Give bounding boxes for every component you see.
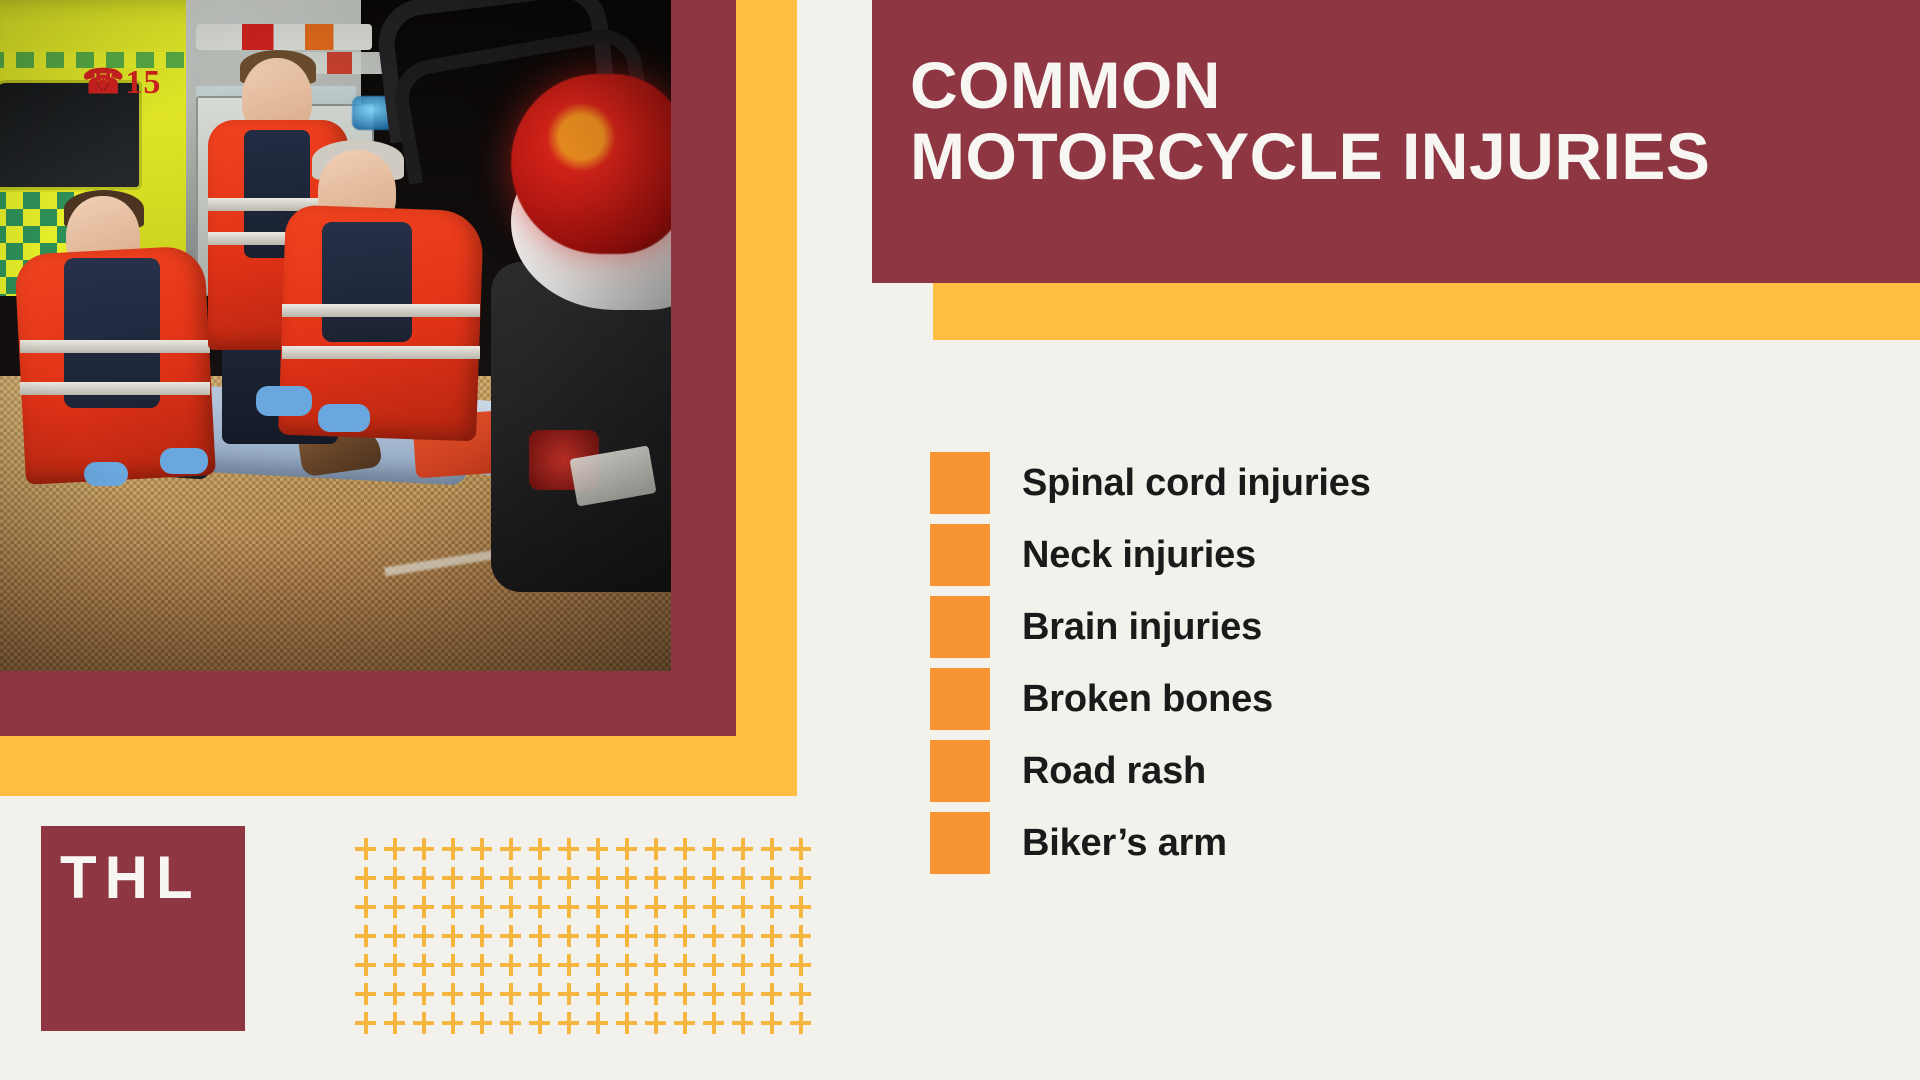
plus-icon xyxy=(616,896,645,925)
plus-icon xyxy=(500,838,529,867)
plus-icon xyxy=(732,896,761,925)
plus-icon xyxy=(790,896,819,925)
plus-icon xyxy=(587,954,616,983)
plus-icon xyxy=(674,983,703,1012)
plus-icon xyxy=(645,925,674,954)
injury-bullet-square xyxy=(930,524,990,586)
plus-icon xyxy=(471,954,500,983)
plus-icon xyxy=(384,838,413,867)
plus-icon xyxy=(645,867,674,896)
plus-icon xyxy=(790,867,819,896)
plus-icon xyxy=(587,896,616,925)
plus-icon xyxy=(471,983,500,1012)
plus-icon xyxy=(761,1012,790,1041)
plus-icon xyxy=(529,954,558,983)
plus-icon xyxy=(442,983,471,1012)
plus-icon xyxy=(645,1012,674,1041)
plus-icon xyxy=(500,1012,529,1041)
injury-list-item: Brain injuries xyxy=(930,596,1371,658)
plus-icon xyxy=(645,954,674,983)
injury-label: Biker’s arm xyxy=(1022,822,1227,865)
injury-label: Road rash xyxy=(1022,750,1206,793)
plus-icon xyxy=(761,925,790,954)
plus-icon xyxy=(645,838,674,867)
plus-icon xyxy=(355,838,384,867)
plus-icon xyxy=(384,896,413,925)
plus-icon xyxy=(674,925,703,954)
plus-icon xyxy=(500,925,529,954)
plus-icon xyxy=(790,838,819,867)
plus-icon xyxy=(645,896,674,925)
plus-icon xyxy=(616,983,645,1012)
injury-bullet-square xyxy=(930,740,990,802)
plus-icon xyxy=(355,1012,384,1041)
accident-photo: ☎15 xyxy=(0,0,671,671)
plus-icon xyxy=(529,1012,558,1041)
plus-icon xyxy=(790,925,819,954)
plus-icon xyxy=(529,896,558,925)
plus-icon xyxy=(703,925,732,954)
plus-icon xyxy=(703,954,732,983)
plus-icon xyxy=(442,1012,471,1041)
plus-icon xyxy=(558,954,587,983)
plus-icon xyxy=(384,983,413,1012)
plus-icon xyxy=(500,954,529,983)
injury-bullet-square xyxy=(930,668,990,730)
plus-icon xyxy=(471,1012,500,1041)
plus-icon xyxy=(442,896,471,925)
plus-icon xyxy=(413,867,442,896)
injury-list-item: Spinal cord injuries xyxy=(930,452,1371,514)
plus-icon xyxy=(732,983,761,1012)
plus-icon xyxy=(558,925,587,954)
plus-icon xyxy=(732,838,761,867)
thl-logo-text: THL xyxy=(60,848,201,908)
plus-icon xyxy=(616,925,645,954)
plus-icon xyxy=(355,925,384,954)
title-underbar-accent xyxy=(933,283,1920,340)
plus-icon xyxy=(616,838,645,867)
plus-icon xyxy=(355,983,384,1012)
thl-logo-block[interactable]: THL xyxy=(41,826,245,1031)
plus-icon xyxy=(703,896,732,925)
plus-icon xyxy=(761,838,790,867)
injury-bullet-square xyxy=(930,812,990,874)
injury-list-item: Biker’s arm xyxy=(930,812,1371,874)
plus-icon xyxy=(558,838,587,867)
plus-icon xyxy=(529,838,558,867)
plus-icon xyxy=(384,925,413,954)
plus-icon xyxy=(674,867,703,896)
plus-icon xyxy=(442,838,471,867)
plus-icon xyxy=(587,867,616,896)
plus-icon xyxy=(703,867,732,896)
plus-icon xyxy=(558,983,587,1012)
plus-icon xyxy=(355,867,384,896)
plus-icon xyxy=(413,925,442,954)
plus-icon xyxy=(442,867,471,896)
plus-icon xyxy=(500,896,529,925)
plus-icon xyxy=(616,954,645,983)
plus-icon xyxy=(529,925,558,954)
plus-icon xyxy=(529,983,558,1012)
injury-label: Neck injuries xyxy=(1022,534,1256,577)
plus-icon xyxy=(674,838,703,867)
plus-icon xyxy=(732,867,761,896)
plus-icon xyxy=(529,867,558,896)
plus-icon xyxy=(616,1012,645,1041)
plus-icon xyxy=(384,867,413,896)
plus-icon xyxy=(587,1012,616,1041)
plus-icon xyxy=(384,1012,413,1041)
plus-icon xyxy=(761,896,790,925)
plus-icon xyxy=(500,867,529,896)
plus-icon xyxy=(674,1012,703,1041)
plus-icon xyxy=(471,838,500,867)
plus-icon xyxy=(790,1012,819,1041)
plus-icon xyxy=(558,896,587,925)
plus-icon xyxy=(442,954,471,983)
plus-icon xyxy=(645,983,674,1012)
left-image-composition: ☎15 xyxy=(0,0,800,800)
plus-icon xyxy=(500,983,529,1012)
injury-bullet-square xyxy=(930,452,990,514)
plus-icon xyxy=(355,896,384,925)
plus-icon xyxy=(587,983,616,1012)
plus-icon xyxy=(703,983,732,1012)
plus-icon xyxy=(384,954,413,983)
plus-icon xyxy=(413,838,442,867)
plus-icon xyxy=(471,925,500,954)
plus-icon xyxy=(587,925,616,954)
plus-icon xyxy=(471,896,500,925)
injury-list-item: Neck injuries xyxy=(930,524,1371,586)
injury-label: Brain injuries xyxy=(1022,606,1262,649)
plus-icon xyxy=(732,954,761,983)
plus-icon xyxy=(442,925,471,954)
plus-icon xyxy=(674,896,703,925)
injury-list-item: Road rash xyxy=(930,740,1371,802)
plus-icon xyxy=(790,954,819,983)
plus-icon xyxy=(761,983,790,1012)
plus-icon xyxy=(732,925,761,954)
plus-icon xyxy=(674,954,703,983)
plus-icon xyxy=(703,838,732,867)
plus-icon xyxy=(413,954,442,983)
injury-label: Spinal cord injuries xyxy=(1022,462,1371,505)
plus-icon xyxy=(471,867,500,896)
plus-icon xyxy=(703,1012,732,1041)
plus-icon xyxy=(761,867,790,896)
injury-list-item: Broken bones xyxy=(930,668,1371,730)
plus-icon xyxy=(732,1012,761,1041)
plus-icon xyxy=(558,867,587,896)
plus-icon xyxy=(761,954,790,983)
plus-icon xyxy=(587,838,616,867)
plus-icon xyxy=(616,867,645,896)
plus-icon xyxy=(790,983,819,1012)
page-title: COMMON MOTORCYCLE INJURIES xyxy=(910,50,1710,191)
photo-vignette xyxy=(0,0,671,671)
injury-list: Spinal cord injuriesNeck injuriesBrain i… xyxy=(930,452,1371,874)
title-banner: COMMON MOTORCYCLE INJURIES xyxy=(872,0,1920,283)
injury-label: Broken bones xyxy=(1022,678,1273,721)
plus-icon xyxy=(355,954,384,983)
plus-icon xyxy=(413,1012,442,1041)
plus-icon xyxy=(558,1012,587,1041)
photo-scene: ☎15 xyxy=(0,0,671,671)
plus-icon xyxy=(413,896,442,925)
plus-decoration-pattern xyxy=(355,838,819,1041)
injury-bullet-square xyxy=(930,596,990,658)
plus-icon xyxy=(413,983,442,1012)
